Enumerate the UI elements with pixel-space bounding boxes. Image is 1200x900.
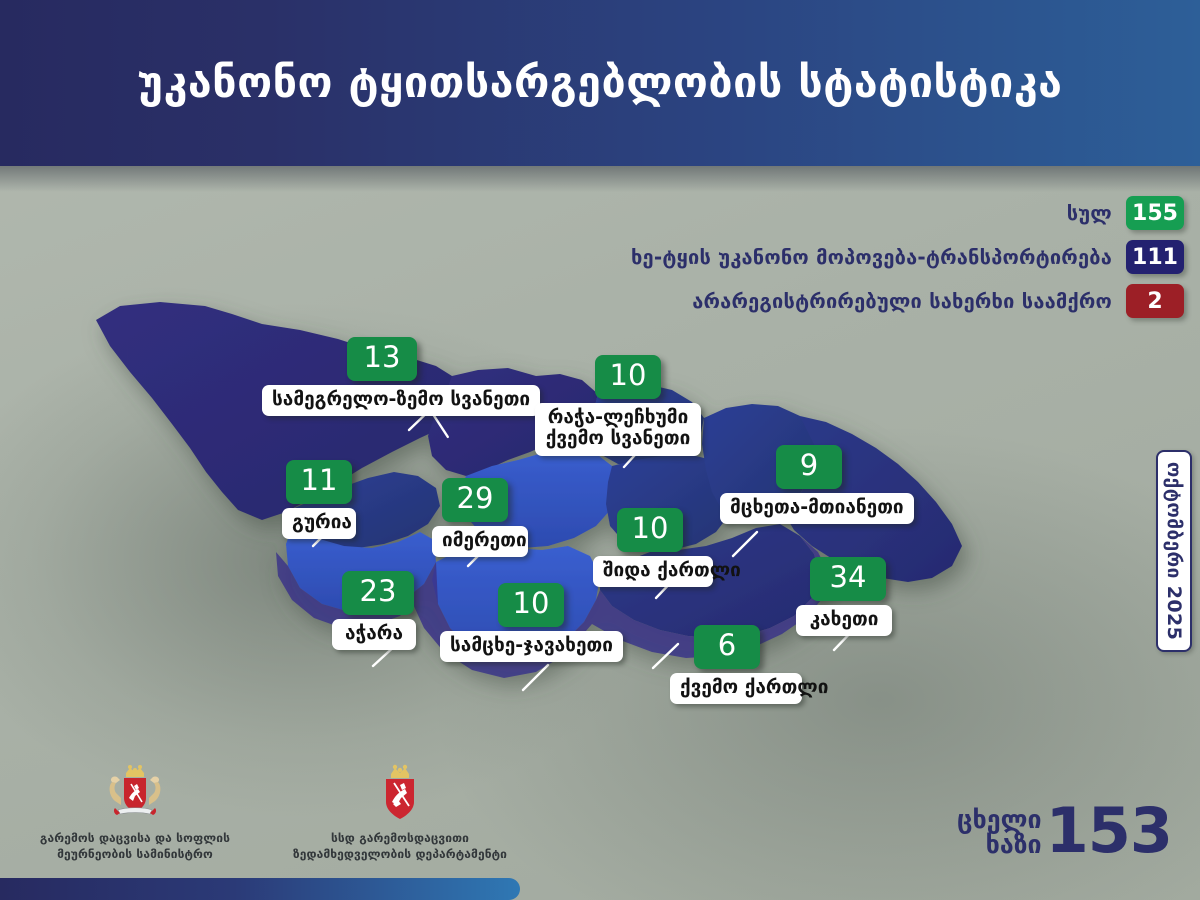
marker-label-adjara: აჭარა [332, 619, 416, 650]
legend-badge-logging: 111 [1126, 240, 1184, 274]
marker-value-kvemokartli: 6 [694, 625, 760, 669]
legend-row-logging: ხე-ტყის უკანონო მოპოვება-ტრანსპორტირება … [631, 240, 1184, 274]
marker-samtskhe[interactable]: 10 სამცხე-ჯავახეთი [440, 583, 623, 662]
hotline-words: ცხელი ხაზი [957, 807, 1042, 857]
header-banner: უკანონო ტყითსარგებლობის სტატისტიკა [0, 0, 1200, 166]
marker-value-shidakartli: 10 [617, 508, 683, 552]
marker-label-kvemokartli: ქვემო ქართლი [670, 673, 802, 704]
hotline-number: 153 [1046, 805, 1172, 858]
legend-label-sawmill: არარეგისტრირებული სახერხი საამქრო [692, 289, 1112, 313]
legend: სულ 155 ხე-ტყის უკანონო მოპოვება-ტრანსპო… [631, 196, 1184, 318]
georgia-coat-of-arms-icon [104, 760, 166, 822]
marker-mtskheta[interactable]: 9 მცხეთა-მთიანეთი [720, 445, 914, 524]
legend-row-total: სულ 155 [1067, 196, 1184, 230]
hotline: ცხელი ხაზი 153 [957, 805, 1172, 858]
marker-value-imereti: 29 [442, 478, 508, 522]
marker-guria[interactable]: 11 გურია [282, 460, 356, 539]
marker-label-samtskhe: სამცხე-ჯავახეთი [440, 631, 623, 662]
marker-label-racha: რაჭა-ლეჩხუმიქვემო სვანეთი [535, 403, 701, 456]
emblem-caption-department: სსდ გარემოსდაცვითიზედამხედველობის დეპარტ… [278, 830, 522, 862]
legend-badge-total: 155 [1126, 196, 1184, 230]
marker-adjara[interactable]: 23 აჭარა [332, 571, 416, 650]
marker-label-guria: გურია [282, 508, 356, 539]
month-tag: ოქტომბერი 2025 [1156, 450, 1192, 652]
page-title: უკანონო ტყითსარგებლობის სტატისტიკა [138, 62, 1063, 105]
marker-value-racha: 10 [595, 355, 661, 399]
marker-value-samegrelo: 13 [347, 337, 417, 381]
marker-shidakartli[interactable]: 10 შიდა ქართლი [593, 508, 713, 587]
legend-badge-sawmill: 2 [1126, 284, 1184, 318]
marker-value-guria: 11 [286, 460, 352, 504]
legend-label-total: სულ [1067, 201, 1112, 225]
marker-samegrelo[interactable]: 13 სამეგრელო-ზემო სვანეთი [262, 337, 540, 416]
marker-label-mtskheta: მცხეთა-მთიანეთი [720, 493, 914, 524]
marker-value-kakheti: 34 [810, 557, 886, 601]
marker-value-mtskheta: 9 [776, 445, 842, 489]
marker-racha[interactable]: 10 რაჭა-ლეჩხუმიქვემო სვანეთი [535, 355, 701, 456]
marker-label-samegrelo: სამეგრელო-ზემო სვანეთი [262, 385, 540, 416]
hotline-line1: ცხელი [957, 807, 1042, 832]
environmental-department-emblem-icon [373, 760, 427, 822]
hotline-line2: ხაზი [957, 832, 1042, 857]
emblem-caption-ministry: გარემოს დაცვისა და სოფლისმეურნეობის სამი… [20, 830, 250, 862]
bottom-accent-bar [0, 878, 520, 900]
leader-mtskheta [733, 532, 757, 556]
marker-value-adjara: 23 [342, 571, 414, 615]
legend-row-sawmill: არარეგისტრირებული სახერხი საამქრო 2 [692, 284, 1184, 318]
month-tag-label: ოქტომბერი 2025 [1163, 462, 1185, 640]
marker-kvemokartli[interactable]: 6 ქვემო ქართლი [670, 625, 802, 704]
marker-value-samtskhe: 10 [498, 583, 564, 627]
leader-samtskhe [523, 665, 548, 690]
marker-kakheti[interactable]: 34 კახეთი [796, 557, 892, 636]
marker-label-imereti: იმერეთი [432, 526, 528, 557]
emblem-block-department: სსდ გარემოსდაცვითიზედამხედველობის დეპარტ… [278, 760, 522, 862]
emblem-block-ministry: გარემოს დაცვისა და სოფლისმეურნეობის სამი… [20, 760, 250, 862]
marker-imereti[interactable]: 29 იმერეთი [432, 478, 528, 557]
marker-label-kakheti: კახეთი [796, 605, 892, 636]
legend-label-logging: ხე-ტყის უკანონო მოპოვება-ტრანსპორტირება [631, 245, 1112, 269]
